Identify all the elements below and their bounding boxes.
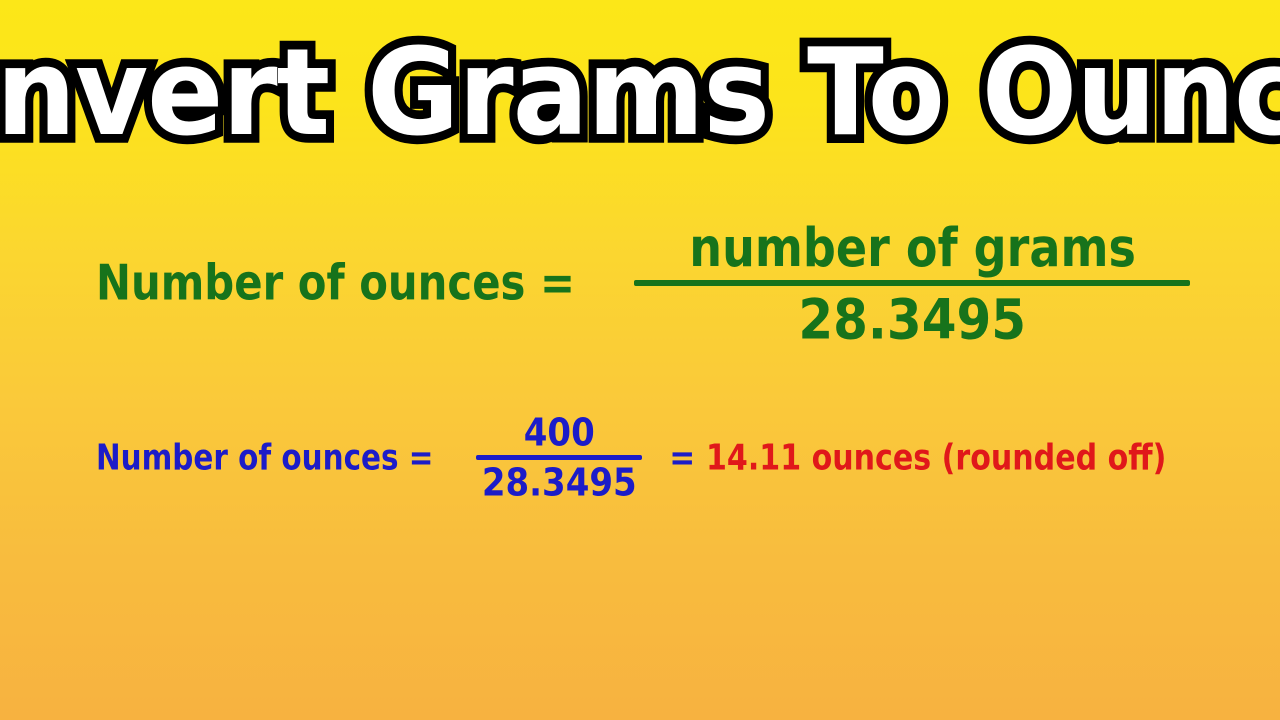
example-equals-sign: = [669,440,695,476]
page-title: Convert Grams To Ounces [0,31,1280,152]
example-formula-denominator: 28.3495 [482,464,637,502]
example-formula-fraction-bar [476,455,642,460]
example-formula-label: Number of ounces = [96,440,433,476]
general-formula-denominator: 28.3495 [798,292,1026,347]
slide-canvas: Convert Grams To Ounces Number of ounces… [0,0,1280,720]
example-result: 14.11 ounces (rounded off) [706,440,1166,476]
example-formula-fraction: 400 28.3495 [475,416,643,500]
general-formula-label: Number of ounces = [96,259,575,308]
title-banner: Convert Grams To Ounces [0,14,1280,169]
general-formula: Number of ounces = number of grams 28.34… [96,214,1226,354]
example-formula: Number of ounces = 400 28.3495 = 14.11 o… [96,400,1236,516]
general-formula-fraction-bar [634,280,1190,286]
general-formula-fraction: number of grams 28.3495 [634,224,1190,345]
example-formula-numerator: 400 [524,414,595,452]
general-formula-numerator: number of grams [689,221,1136,275]
